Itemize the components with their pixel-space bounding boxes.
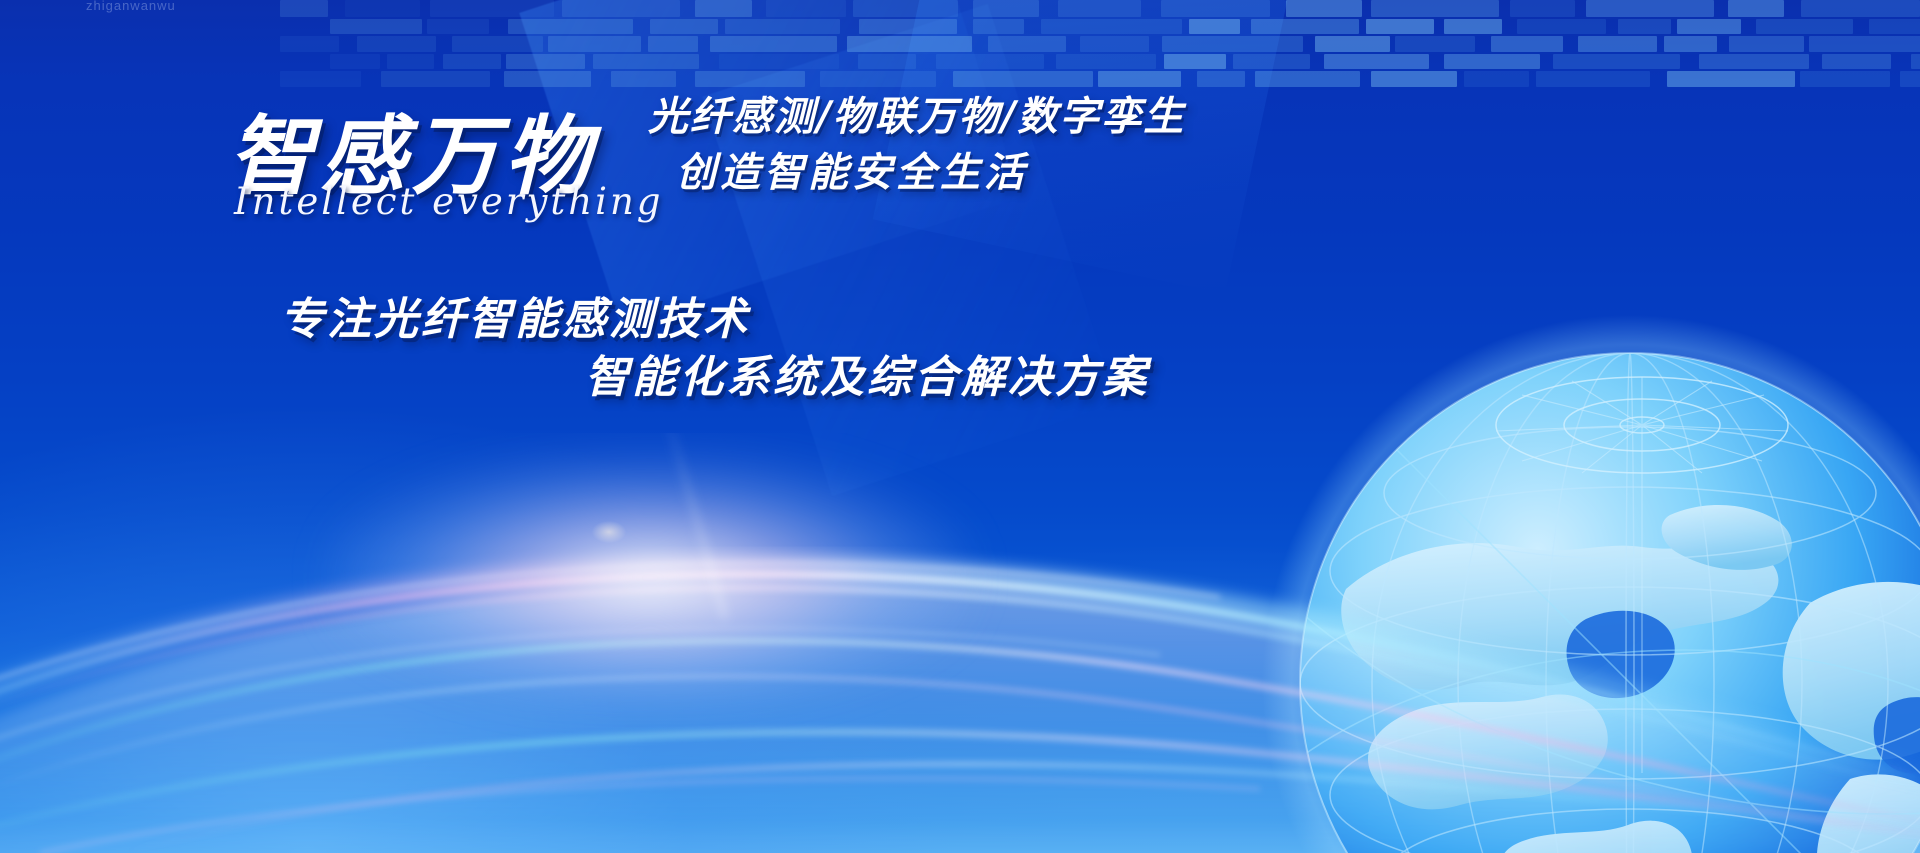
tagline-secondary: 创造智能安全生活 [676, 140, 1028, 198]
page-subtitle-en: Intellect everything [234, 180, 663, 223]
slogan-line-1: 专注光纤智能感测技术 [280, 283, 750, 347]
slogan-line-2: 智能化系统及综合解决方案 [585, 341, 1149, 405]
tagline-primary: 光纤感测/物联万物/数字孪生 [648, 84, 1185, 142]
hero-banner: zhiganwanwu [0, 0, 1920, 853]
banner-text-layer: 智感万物 Intellect everything 光纤感测/物联万物/数字孪生… [0, 0, 1920, 853]
